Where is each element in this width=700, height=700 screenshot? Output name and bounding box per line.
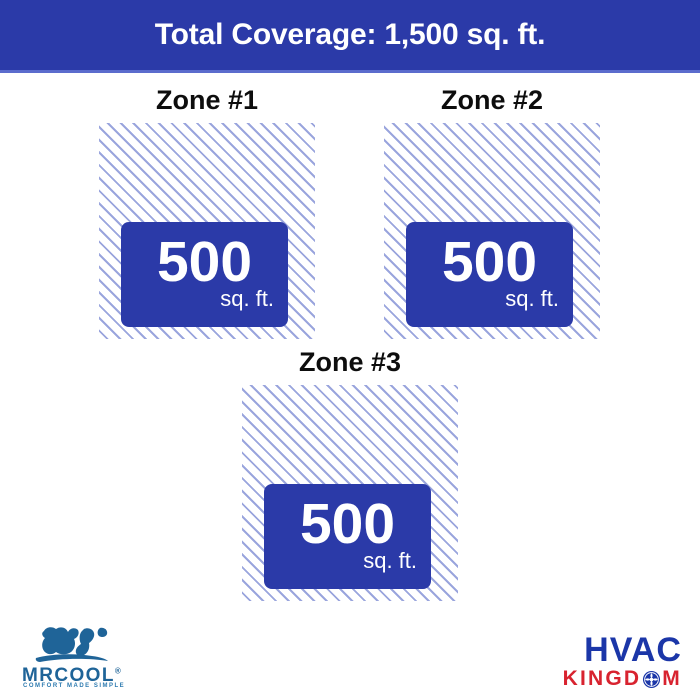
zone-coverage-value-1: 500 <box>135 235 274 291</box>
zone-area-swatch-3: 500 sq. ft. <box>242 385 458 601</box>
hvac-logo-kingd-text: KINGD <box>563 668 642 690</box>
mrcool-tagline: COMFORT MADE SIMPLE <box>23 683 125 689</box>
hvac-logo-line2: KINGD M <box>542 668 682 690</box>
zone-title-2: Zone #2 <box>384 87 600 114</box>
zone-title-3: Zone #3 <box>242 349 458 376</box>
zone-coverage-badge-2: 500 sq. ft. <box>406 222 573 327</box>
hvac-kingdom-logo: HVAC KINGD M <box>542 633 682 689</box>
header-banner: Total Coverage: 1,500 sq. ft. <box>0 0 700 70</box>
registered-trademark-icon: ® <box>115 667 121 676</box>
zone-coverage-value-2: 500 <box>420 235 559 291</box>
zone-area-swatch-2: 500 sq. ft. <box>384 123 600 339</box>
hvac-logo-line1: HVAC <box>542 633 682 668</box>
fan-icon <box>642 670 661 689</box>
zone-coverage-badge-3: 500 sq. ft. <box>264 484 431 589</box>
page-title: Total Coverage: 1,500 sq. ft. <box>155 20 545 50</box>
zone-coverage-unit-1: sq. ft. <box>220 288 274 310</box>
header-underline-divider <box>0 70 700 73</box>
zone-coverage-badge-1: 500 sq. ft. <box>121 222 288 327</box>
zone-area-swatch-1: 500 sq. ft. <box>99 123 315 339</box>
zone-coverage-unit-3: sq. ft. <box>363 550 417 572</box>
zone-title-1: Zone #1 <box>99 87 315 114</box>
zone-coverage-unit-2: sq. ft. <box>505 288 559 310</box>
mrcool-brand-logo: MRCOOL® COMFORT MADE SIMPLE <box>22 625 142 689</box>
polar-bear-icon <box>30 625 118 665</box>
zone-coverage-value-3: 500 <box>278 497 417 553</box>
hvac-logo-m-text: M <box>662 668 682 690</box>
